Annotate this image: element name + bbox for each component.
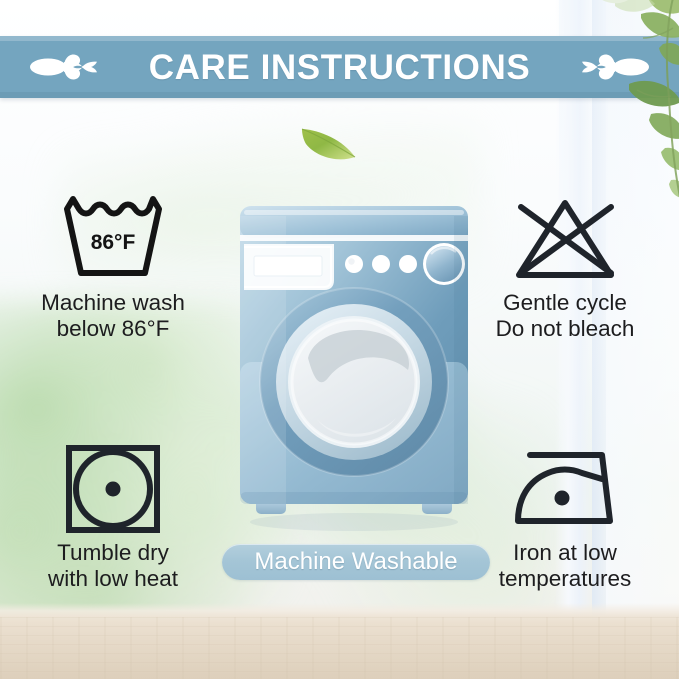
care-symbol-do-not-bleach: Gentle cycle Do not bleach bbox=[460, 196, 670, 342]
wooden-table-surface bbox=[0, 617, 679, 679]
care-symbol-tumble-dry: Tumble dry with low heat bbox=[8, 446, 218, 592]
wash-tub-temperature: 86°F bbox=[91, 231, 136, 254]
fleur-de-lis-icon-right bbox=[577, 44, 653, 90]
care-caption-iron: Iron at low temperatures bbox=[499, 540, 632, 592]
care-caption-do-not-bleach: Gentle cycle Do not bleach bbox=[496, 290, 635, 342]
tumble-dry-square-icon bbox=[58, 446, 168, 532]
care-symbol-iron: Iron at low temperatures bbox=[460, 446, 670, 592]
triangle-crossed-out-icon bbox=[510, 196, 620, 282]
floating-leaf-icon bbox=[298, 124, 360, 166]
wood-grain-texture bbox=[0, 617, 679, 679]
washing-machine-illustration bbox=[228, 202, 480, 538]
control-dot-2 bbox=[372, 255, 390, 273]
care-caption-machine-wash: Machine wash below 86°F bbox=[41, 290, 185, 342]
page-title: CARE INSTRUCTIONS bbox=[149, 50, 531, 85]
machine-washable-label: Machine Washable bbox=[254, 550, 457, 574]
wash-tub-icon: 86°F bbox=[58, 196, 168, 282]
table-edge bbox=[0, 603, 679, 617]
control-dot-3 bbox=[399, 255, 417, 273]
header-banner: CARE INSTRUCTIONS bbox=[0, 36, 679, 98]
banner-highlight-stripe bbox=[0, 36, 679, 41]
control-dot-1 bbox=[345, 255, 363, 273]
care-symbol-machine-wash: 86°F Machine wash below 86°F bbox=[8, 196, 218, 342]
fleur-de-lis-icon-left bbox=[26, 44, 102, 90]
machine-washable-badge: Machine Washable bbox=[222, 544, 490, 580]
care-caption-tumble-dry: Tumble dry with low heat bbox=[48, 540, 178, 592]
care-instructions-graphic: CARE INSTRUCTIONS bbox=[0, 0, 679, 679]
iron-icon bbox=[510, 446, 620, 532]
banner-shadow-stripe bbox=[0, 92, 679, 98]
